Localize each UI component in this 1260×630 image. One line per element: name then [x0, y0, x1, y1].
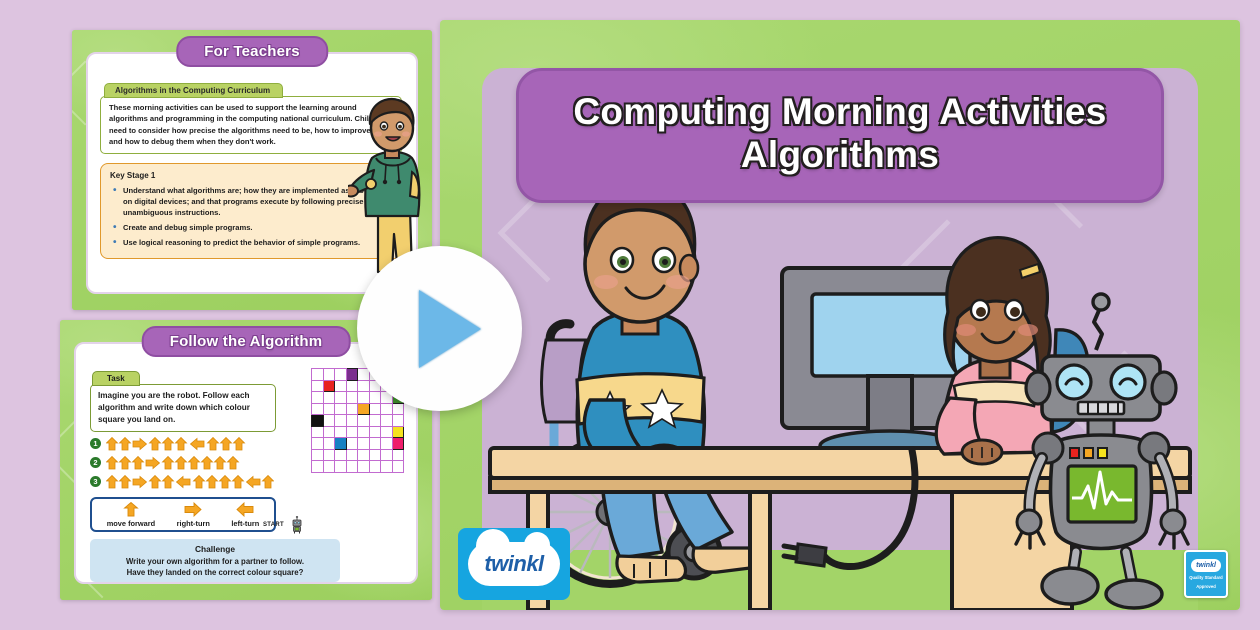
- key-label: right-turn: [177, 519, 210, 528]
- grid-cell-coloured[interactable]: [392, 438, 404, 450]
- grid-cell[interactable]: [346, 415, 358, 427]
- grid-cell[interactable]: [381, 449, 393, 461]
- algorithm-arrows-2: [106, 456, 268, 470]
- grid-cell[interactable]: [358, 426, 370, 438]
- grid-cell[interactable]: [392, 415, 404, 427]
- grid-cell[interactable]: [346, 461, 358, 473]
- grid-cell[interactable]: [358, 449, 370, 461]
- grid-cell[interactable]: [323, 403, 335, 415]
- grid-row: [312, 438, 404, 450]
- grid-cell-coloured[interactable]: [335, 438, 347, 450]
- grid-cell-coloured[interactable]: [323, 380, 335, 392]
- grid-cell[interactable]: [312, 426, 324, 438]
- grid-cell[interactable]: [335, 392, 347, 404]
- arrow-right-icon: [184, 502, 202, 517]
- algorithm-arrows-1: [106, 437, 268, 451]
- grid-cell[interactable]: [392, 449, 404, 461]
- key-item-move-forward: move forward: [107, 502, 155, 528]
- grid-cell[interactable]: [346, 392, 358, 404]
- grid-row: [312, 415, 404, 427]
- key-label: left-turn: [231, 519, 259, 528]
- grid-cell[interactable]: [335, 403, 347, 415]
- arrow-key-legend: move forward right-turn left-turn: [90, 497, 276, 532]
- grid-cell[interactable]: [358, 461, 370, 473]
- task-description: Imagine you are the robot. Follow each a…: [90, 384, 276, 432]
- grid-cell[interactable]: [346, 438, 358, 450]
- grid-cell-coloured[interactable]: [358, 403, 370, 415]
- badge-line-2: Approved: [1196, 584, 1216, 590]
- grid-cell[interactable]: [312, 392, 324, 404]
- grid-cell[interactable]: [346, 426, 358, 438]
- grid-cell[interactable]: [381, 403, 393, 415]
- grid-cell[interactable]: [358, 438, 370, 450]
- grid-cell[interactable]: [346, 403, 358, 415]
- grid-cell[interactable]: [346, 380, 358, 392]
- algorithm-number: 2: [90, 457, 101, 468]
- algorithm-row-2: 2: [90, 456, 276, 470]
- grid-cell[interactable]: [312, 449, 324, 461]
- badge-logo-text: twinkl: [1191, 559, 1221, 572]
- main-slide-title: Computing Morning Activities Algorithms: [516, 68, 1164, 203]
- grid-cell[interactable]: [392, 461, 404, 473]
- grid-cell[interactable]: [369, 415, 381, 427]
- grid-cell-coloured[interactable]: [392, 426, 404, 438]
- twinkl-logo: twinkl: [458, 528, 570, 600]
- key-label: move forward: [107, 519, 155, 528]
- grid-cell[interactable]: [358, 415, 370, 427]
- algorithm-row-3: 3: [90, 475, 276, 489]
- slide-title: For Teachers: [176, 36, 328, 67]
- grid-cell[interactable]: [369, 449, 381, 461]
- grid-cell[interactable]: [323, 392, 335, 404]
- title-line-1: Computing Morning Activities: [539, 91, 1141, 134]
- grid-cell[interactable]: [323, 426, 335, 438]
- grid-cell[interactable]: [381, 426, 393, 438]
- classroom-illustration: [482, 160, 1198, 610]
- algorithm-row-1: 1: [90, 437, 276, 451]
- grid-cell[interactable]: [358, 380, 370, 392]
- arrow-up-icon: [123, 502, 139, 517]
- grid-cell-coloured[interactable]: [346, 369, 358, 381]
- algorithm-arrows-3: [106, 475, 274, 489]
- grid-row: [312, 426, 404, 438]
- slide-title: Follow the Algorithm: [142, 326, 351, 357]
- grid-cell[interactable]: [335, 415, 347, 427]
- grid-cell[interactable]: [323, 415, 335, 427]
- key-item-left-turn: left-turn: [231, 502, 259, 528]
- grid-cell[interactable]: [392, 403, 404, 415]
- grid-cell[interactable]: [335, 426, 347, 438]
- challenge-title: Challenge: [96, 543, 334, 555]
- grid-cell[interactable]: [369, 438, 381, 450]
- challenge-line-1: Write your own algorithm for a partner t…: [96, 556, 334, 567]
- grid-cell[interactable]: [323, 369, 335, 381]
- thumbnail-slide-for-teachers[interactable]: Algorithms in the Computing Curriculum T…: [72, 30, 432, 310]
- grid-cell[interactable]: [358, 392, 370, 404]
- grid-cell[interactable]: [358, 369, 370, 381]
- robot-token-icon: [290, 516, 304, 534]
- grid-cell[interactable]: [381, 461, 393, 473]
- grid-cell-coloured[interactable]: [312, 415, 324, 427]
- start-label: START: [263, 522, 284, 528]
- grid-cell[interactable]: [346, 449, 358, 461]
- grid-cell[interactable]: [369, 392, 381, 404]
- arrow-left-icon: [236, 502, 254, 517]
- grid-cell[interactable]: [312, 403, 324, 415]
- play-button[interactable]: [357, 246, 522, 411]
- grid-cell[interactable]: [369, 426, 381, 438]
- grid-row: [312, 461, 404, 473]
- quality-standard-badge: twinkl Quality Standard Approved: [1184, 550, 1228, 598]
- badge-line-1: Quality Standard: [1189, 575, 1223, 581]
- main-slide-preview[interactable]: Computing Morning Activities Algorithms …: [440, 20, 1240, 610]
- algorithm-number: 1: [90, 438, 101, 449]
- grid-cell[interactable]: [312, 461, 324, 473]
- grid-row: [312, 449, 404, 461]
- grid-cell[interactable]: [335, 461, 347, 473]
- play-triangle-icon: [419, 290, 481, 368]
- slide-content-card: Task Imagine you are the robot. Follow e…: [74, 342, 418, 584]
- section-tag: Algorithms in the Computing Curriculum: [104, 83, 283, 98]
- grid-cell[interactable]: [335, 380, 347, 392]
- grid-row: [312, 403, 404, 415]
- grid-cell[interactable]: [381, 438, 393, 450]
- grid-cell[interactable]: [323, 449, 335, 461]
- challenge-box: Challenge Write your own algorithm for a…: [90, 539, 340, 583]
- task-tag: Task: [92, 371, 140, 386]
- grid-cell[interactable]: [381, 415, 393, 427]
- cloud-shape: twinkl: [468, 542, 560, 586]
- title-line-2: Algorithms: [539, 134, 1141, 177]
- grid-cell[interactable]: [312, 438, 324, 450]
- algorithm-number: 3: [90, 476, 101, 487]
- grid-cell[interactable]: [312, 369, 324, 381]
- grid-cell[interactable]: [323, 438, 335, 450]
- grid-cell[interactable]: [335, 369, 347, 381]
- grid-cell[interactable]: [369, 461, 381, 473]
- twinkl-logo-text: twinkl: [468, 542, 560, 586]
- challenge-line-2: Have they landed on the correct colour s…: [96, 567, 334, 578]
- grid-cell[interactable]: [323, 461, 335, 473]
- grid-cell[interactable]: [335, 449, 347, 461]
- grid-cell[interactable]: [369, 403, 381, 415]
- key-item-right-turn: right-turn: [177, 502, 210, 528]
- grid-cell[interactable]: [312, 380, 324, 392]
